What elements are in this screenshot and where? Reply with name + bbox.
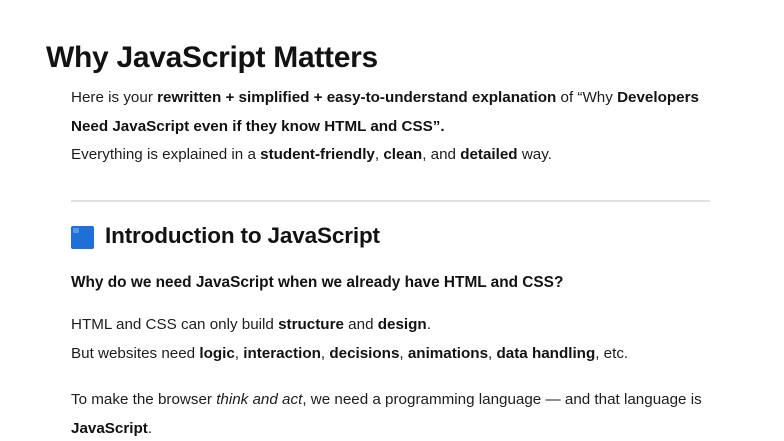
para3-suffix: . — [148, 420, 152, 437]
section-body: Why do we need JavaScript when we alread… — [71, 269, 721, 441]
spacer — [71, 297, 721, 311]
para2-bold4: animations — [408, 345, 488, 362]
intro-line3-bold2: clean — [383, 146, 422, 163]
para3-mid: , we need a programming language — and t… — [302, 391, 701, 408]
para3-italic: think and act — [216, 391, 302, 408]
para1-suffix: . — [427, 316, 431, 333]
para3-prefix: To make the browser — [71, 391, 216, 408]
page-title: Why JavaScript Matters — [46, 38, 378, 78]
intro-paragraph-line3: Everything is explained in a student-fri… — [71, 141, 721, 170]
para1-mid: and — [344, 316, 378, 333]
para1-bold2: design — [378, 316, 427, 333]
para2-sep4: , — [488, 345, 496, 362]
para2-bold3: decisions — [329, 345, 399, 362]
para2-bold1: logic — [199, 345, 234, 362]
intro-line1-bold: rewritten + simplified + easy-to-underst… — [157, 89, 556, 106]
para2-sep3: , — [399, 345, 407, 362]
intro-line3-mid2: , and — [422, 146, 460, 163]
document-page: Why JavaScript Matters Here is your rewr… — [0, 0, 784, 441]
intro-line1-prefix: Here is your — [71, 89, 157, 106]
section-paragraph-3: To make the browser think and act, we ne… — [71, 386, 721, 441]
para1-bold1: structure — [278, 316, 344, 333]
section-heading-label: Introduction to JavaScript — [105, 222, 380, 250]
intro-line3-bold1: student-friendly — [260, 146, 375, 163]
intro-line3-bold3: detailed — [460, 146, 517, 163]
para2-bold5: data handling — [497, 345, 596, 362]
intro-paragraph: Here is your rewritten + simplified + ea… — [71, 84, 721, 141]
intro-line3-suffix: way. — [518, 146, 552, 163]
para2-bold2: interaction — [243, 345, 321, 362]
section-divider — [71, 200, 710, 202]
para1-prefix: HTML and CSS can only build — [71, 316, 278, 333]
para2-sep1: , — [235, 345, 243, 362]
lead-question: Why do we need JavaScript when we alread… — [71, 269, 721, 297]
para2-prefix: But websites need — [71, 345, 199, 362]
section-heading: Introduction to JavaScript — [71, 222, 380, 250]
para3-bold: JavaScript — [71, 420, 148, 437]
intro-paragraph-block: Here is your rewritten + simplified + ea… — [71, 84, 721, 170]
blue-square-icon — [71, 226, 94, 249]
intro-line3-prefix: Everything is explained in a — [71, 146, 260, 163]
intro-line1-suffix: of “Why — [556, 89, 613, 106]
spacer — [71, 368, 721, 386]
section-paragraph-1: HTML and CSS can only build structure an… — [71, 311, 721, 340]
para2-suffix: , etc. — [595, 345, 628, 362]
section-paragraph-2: But websites need logic, interaction, de… — [71, 340, 721, 369]
